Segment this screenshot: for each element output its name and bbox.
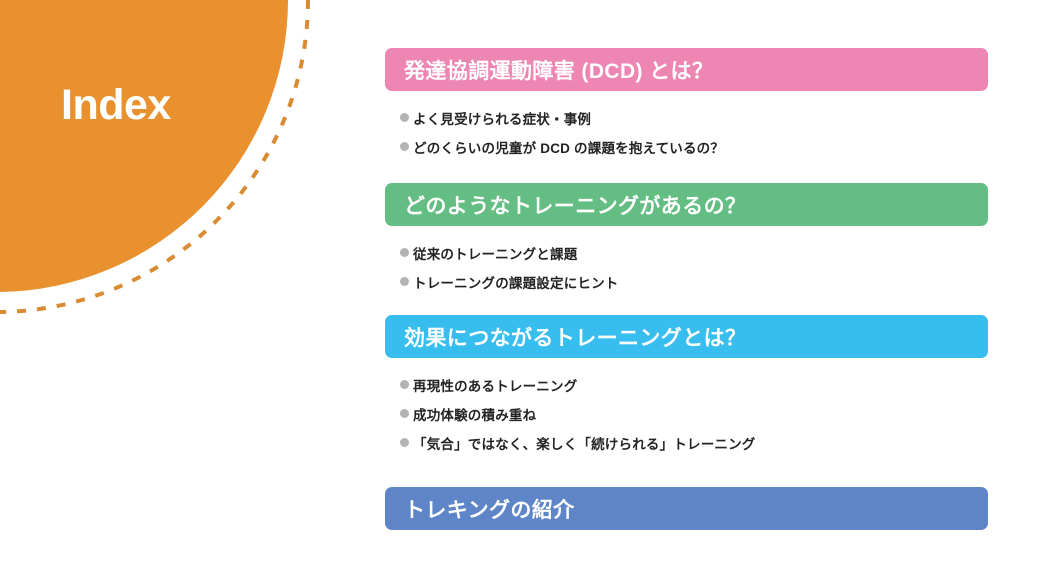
list-item[interactable]: 従来のトレーニングと課題 — [385, 238, 988, 267]
list-item-label: 「気合」ではなく、楽しく「続けられる」トレーニング — [413, 433, 756, 453]
bullet-dot-icon — [400, 438, 409, 447]
list-item[interactable]: 再現性のあるトレーニング — [385, 370, 988, 399]
bullet-dot-icon — [400, 248, 409, 257]
list-item-label: トレーニングの課題設定にヒント — [413, 272, 619, 292]
sections-container: 発達協調運動障害 (DCD) とは？ よく見受けられる症状・事例 どのくらいの児… — [385, 0, 988, 585]
bullet-dot-icon — [400, 113, 409, 122]
section-2: どのようなトレーニングがあるの？ 従来のトレーニングと課題 トレーニングの課題設… — [385, 183, 988, 296]
section-4: トレキングの紹介 — [385, 487, 988, 530]
index-slide: Index 発達協調運動障害 (DCD) とは？ よく見受けられる症状・事例 ど… — [0, 0, 1040, 585]
list-item-label: どのくらいの児童が DCD の課題を抱えているの？ — [413, 137, 724, 157]
bullet-dot-icon — [400, 277, 409, 286]
section-header-4[interactable]: トレキングの紹介 — [385, 487, 988, 530]
page-title: Index — [61, 84, 171, 127]
section-header-3[interactable]: 効果につながるトレーニングとは？ — [385, 315, 988, 358]
list-item-label: よく見受けられる症状・事例 — [413, 108, 591, 128]
list-item-label: 従来のトレーニングと課題 — [413, 243, 577, 263]
list-item[interactable]: 成功体験の積み重ね — [385, 399, 988, 428]
bullet-dot-icon — [400, 380, 409, 389]
orange-corner-decoration — [0, 0, 360, 340]
list-item[interactable]: よく見受けられる症状・事例 — [385, 103, 988, 132]
bullet-dot-icon — [400, 142, 409, 151]
section-header-1[interactable]: 発達協調運動障害 (DCD) とは？ — [385, 48, 988, 91]
section-3: 効果につながるトレーニングとは？ 再現性のあるトレーニング 成功体験の積み重ね … — [385, 315, 988, 457]
list-item-label: 再現性のあるトレーニング — [413, 375, 577, 395]
section-header-2[interactable]: どのようなトレーニングがあるの？ — [385, 183, 988, 226]
bullet-list-2: 従来のトレーニングと課題 トレーニングの課題設定にヒント — [385, 226, 988, 296]
section-1: 発達協調運動障害 (DCD) とは？ よく見受けられる症状・事例 どのくらいの児… — [385, 48, 988, 161]
list-item-label: 成功体験の積み重ね — [413, 404, 536, 424]
bullet-list-3: 再現性のあるトレーニング 成功体験の積み重ね 「気合」ではなく、楽しく「続けられ… — [385, 358, 988, 457]
list-item[interactable]: トレーニングの課題設定にヒント — [385, 267, 988, 296]
list-item[interactable]: 「気合」ではなく、楽しく「続けられる」トレーニング — [385, 428, 988, 457]
orange-quarter-circle-shape — [0, 0, 288, 292]
list-item[interactable]: どのくらいの児童が DCD の課題を抱えているの？ — [385, 132, 988, 161]
bullet-list-1: よく見受けられる症状・事例 どのくらいの児童が DCD の課題を抱えているの？ — [385, 91, 988, 161]
dashed-arc — [0, 0, 308, 312]
bullet-dot-icon — [400, 409, 409, 418]
